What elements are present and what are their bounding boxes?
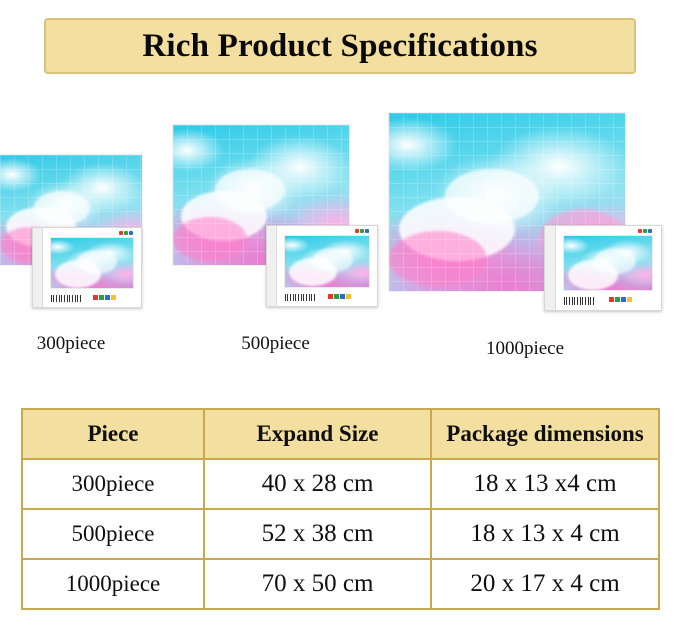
cell-piece-300: 300piece (22, 459, 204, 509)
cell-package-dimensions-500: 18 x 13 x 4 cm (431, 509, 659, 559)
color-swatches-icon (328, 294, 351, 299)
box-side-panel (545, 226, 556, 310)
barcode-icon (51, 295, 81, 302)
box-side-panel (33, 228, 43, 307)
table-row: 300piece 40 x 28 cm 18 x 13 x4 cm (22, 459, 659, 509)
box-side-panel (267, 226, 277, 306)
cell-expand-size-500: 52 x 38 cm (204, 509, 431, 559)
box-logo-icon (638, 229, 652, 233)
puzzle-box-1000 (544, 225, 662, 311)
cell-piece-1000: 1000piece (22, 559, 204, 609)
cloud-shape (313, 248, 353, 272)
table-header-package-dimensions: Package dimensions (431, 409, 659, 459)
color-swatches-icon (609, 297, 632, 302)
product-label-1000: 1000piece (389, 338, 661, 360)
puzzle-box-300 (32, 227, 142, 308)
product-label-300: 300piece (0, 333, 142, 355)
cell-package-dimensions-1000: 20 x 17 x 4 cm (431, 559, 659, 609)
box-cover-art (563, 235, 653, 291)
table-header-piece: Piece (22, 409, 204, 459)
barcode-icon (285, 294, 315, 301)
color-swatches-icon (93, 295, 116, 300)
table-row: 1000piece 70 x 50 cm 20 x 17 x 4 cm (22, 559, 659, 609)
product-500: 500piece (173, 125, 423, 370)
specifications-table: Piece Expand Size Package dimensions 300… (21, 408, 660, 610)
cell-expand-size-300: 40 x 28 cm (204, 459, 431, 509)
cell-piece-500: 500piece (22, 509, 204, 559)
barcode-icon (564, 297, 596, 305)
page-title-banner: Rich Product Specifications (44, 18, 636, 74)
box-logo-icon (119, 231, 133, 235)
cloud-shape (77, 250, 117, 274)
cell-expand-size-1000: 70 x 50 cm (204, 559, 431, 609)
cell-package-dimensions-300: 18 x 13 x4 cm (431, 459, 659, 509)
product-showcase: 300piece 500piece (0, 95, 679, 370)
box-cover-art (284, 235, 370, 288)
page-title: Rich Product Specifications (142, 28, 537, 65)
cloud-shape (594, 248, 636, 274)
table-row: 500piece 52 x 38 cm 18 x 13 x 4 cm (22, 509, 659, 559)
product-label-500: 500piece (173, 333, 378, 355)
product-1000: 1000piece (389, 95, 679, 370)
box-cover-art (50, 237, 134, 289)
puzzle-box-500 (266, 225, 378, 307)
box-logo-icon (355, 229, 369, 233)
table-header-row: Piece Expand Size Package dimensions (22, 409, 659, 459)
table-header-expand-size: Expand Size (204, 409, 431, 459)
